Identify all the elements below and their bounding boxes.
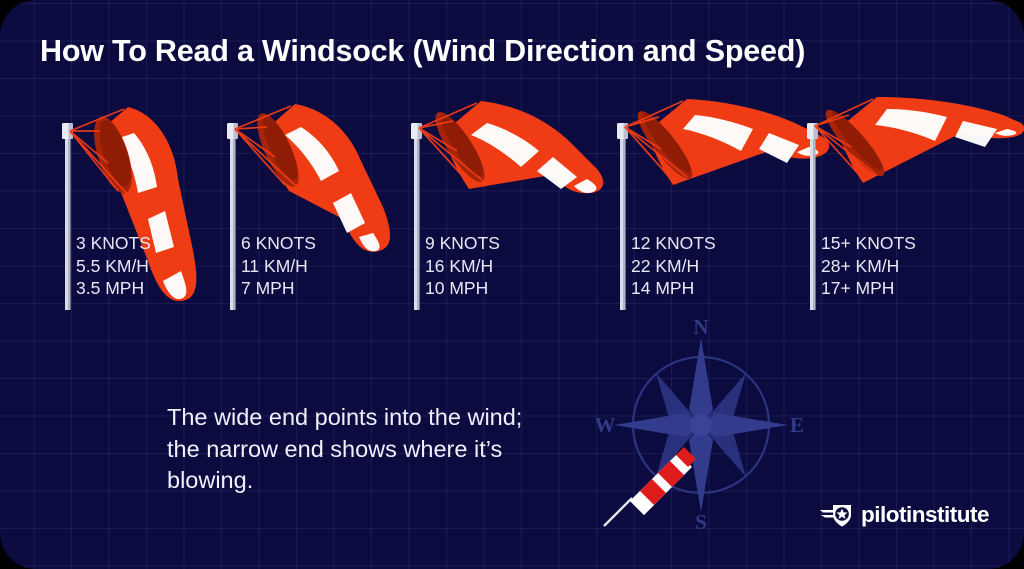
mph-value: 17+ MPH bbox=[821, 277, 916, 300]
windsock-label-5: 15+ KNOTS 28+ KM/H 17+ MPH bbox=[821, 232, 916, 300]
mph-value: 3.5 MPH bbox=[76, 277, 151, 300]
compass-label-west: W bbox=[596, 413, 616, 437]
compass-label-east: E bbox=[790, 413, 804, 437]
mph-value: 10 MPH bbox=[425, 277, 500, 300]
description-text: The wide end points into the wind; the n… bbox=[167, 402, 527, 497]
kmh-value: 22 KM/H bbox=[631, 255, 716, 278]
winged-shield-star-icon bbox=[820, 502, 854, 528]
knots-value: 15+ KNOTS bbox=[821, 232, 916, 255]
infographic-canvas: How To Read a Windsock (Wind Direction a… bbox=[0, 0, 1024, 569]
compass-windsock-indicator bbox=[604, 447, 696, 526]
brand-logo[interactable]: pilotinstitute bbox=[820, 502, 989, 528]
compass-label-south: S bbox=[695, 510, 707, 533]
kmh-value: 5.5 KM/H bbox=[76, 255, 151, 278]
mph-value: 14 MPH bbox=[631, 277, 716, 300]
windsock-label-4: 12 KNOTS 22 KM/H 14 MPH bbox=[631, 232, 716, 300]
mph-value: 7 MPH bbox=[241, 277, 316, 300]
knots-value: 3 KNOTS bbox=[76, 232, 151, 255]
brand-name: pilotinstitute bbox=[861, 502, 989, 528]
compass-rose-illustration: N E S W bbox=[596, 318, 806, 533]
knots-value: 12 KNOTS bbox=[631, 232, 716, 255]
kmh-value: 16 KM/H bbox=[425, 255, 500, 278]
knots-value: 9 KNOTS bbox=[425, 232, 500, 255]
windsock-label-3: 9 KNOTS 16 KM/H 10 MPH bbox=[425, 232, 500, 300]
knots-value: 6 KNOTS bbox=[241, 232, 316, 255]
kmh-value: 28+ KM/H bbox=[821, 255, 916, 278]
kmh-value: 11 KM/H bbox=[241, 255, 316, 278]
page-title: How To Read a Windsock (Wind Direction a… bbox=[40, 34, 805, 69]
windsock-label-2: 6 KNOTS 11 KM/H 7 MPH bbox=[241, 232, 316, 300]
windsock-label-1: 3 KNOTS 5.5 KM/H 3.5 MPH bbox=[76, 232, 151, 300]
compass-rose: N E S W bbox=[596, 318, 806, 538]
compass-label-north: N bbox=[693, 318, 708, 339]
